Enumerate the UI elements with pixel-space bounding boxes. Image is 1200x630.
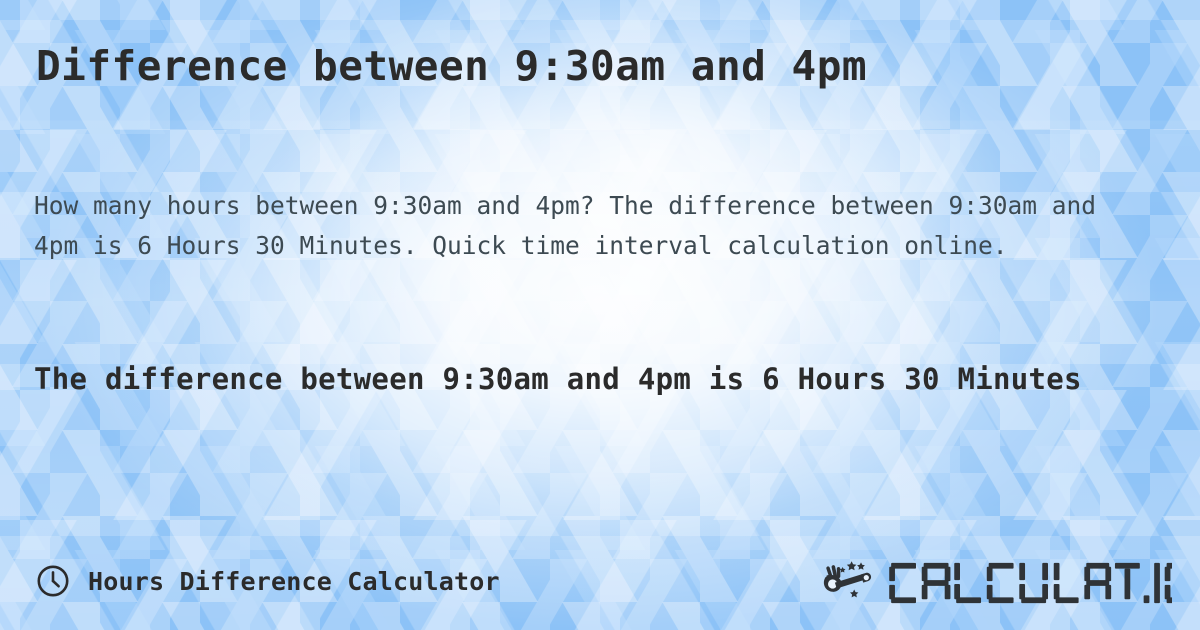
footer: Hours Difference Calculator [36, 556, 1172, 606]
page-description: How many hours between 9:30am and 4pm? T… [34, 186, 1109, 266]
footer-tool[interactable]: Hours Difference Calculator [36, 564, 500, 598]
card-content: Difference between 9:30am and 4pm How ma… [0, 0, 1200, 630]
clock-icon [36, 564, 70, 598]
magic-wand-hand-icon [818, 559, 876, 603]
footer-tool-label: Hours Difference Calculator [88, 567, 500, 596]
og-card: Difference between 9:30am and 4pm How ma… [0, 0, 1200, 630]
brand-logo[interactable] [818, 559, 1172, 603]
page-title: Difference between 9:30am and 4pm [36, 42, 1164, 90]
result-heading: The difference between 9:30am and 4pm is… [34, 355, 1094, 403]
brand-wordmark-calculat-io [880, 561, 1172, 601]
